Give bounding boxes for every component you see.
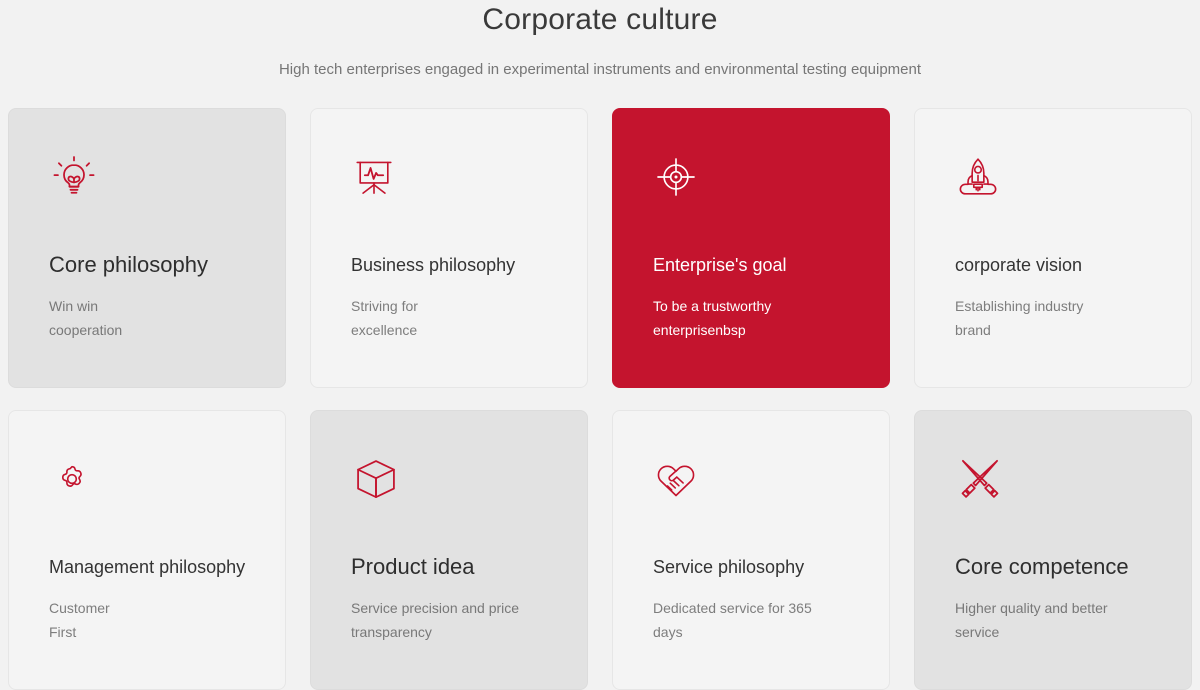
- crosshair-target-icon: [653, 154, 699, 200]
- cube-box-icon: [351, 454, 401, 504]
- card-icon-wrapper: [653, 147, 849, 207]
- culture-card[interactable]: Management philosophyCustomer First: [8, 410, 286, 690]
- culture-card[interactable]: corporate visionEstablishing industry br…: [914, 108, 1192, 388]
- crossed-swords-icon: [955, 454, 1005, 504]
- card-title: Product idea: [351, 555, 547, 579]
- card-title: Business philosophy: [351, 253, 547, 277]
- page-title: Corporate culture: [0, 2, 1200, 38]
- corporate-culture-page: Corporate culture High tech enterprises …: [0, 0, 1200, 690]
- card-description: Dedicated service for 365 days: [653, 596, 849, 644]
- card-description: Customer First: [49, 596, 245, 644]
- culture-card[interactable]: Core competenceHigher quality and better…: [914, 410, 1192, 690]
- card-description: Higher quality and better service: [955, 596, 1151, 644]
- card-description: Win win cooperation: [49, 294, 245, 342]
- card-description: Establishing industry brand: [955, 294, 1151, 342]
- culture-card[interactable]: Service philosophyDedicated service for …: [612, 410, 890, 690]
- card-icon-wrapper: [351, 147, 547, 207]
- card-title: Management philosophy: [49, 555, 245, 579]
- culture-card[interactable]: Core philosophyWin win cooperation: [8, 108, 286, 388]
- culture-card[interactable]: Enterprise's goalTo be a trustworthy ent…: [612, 108, 890, 388]
- card-description: Service precision and price transparency: [351, 596, 547, 644]
- culture-card[interactable]: Product ideaService precision and price …: [310, 410, 588, 690]
- page-subtitle: High tech enterprises engaged in experim…: [0, 60, 1200, 80]
- page-header: Corporate culture High tech enterprises …: [0, 0, 1200, 80]
- card-icon-wrapper: [955, 147, 1151, 207]
- presentation-easel-chart-icon: [351, 154, 397, 200]
- card-title: Core philosophy: [49, 253, 245, 277]
- heart-handshake-icon: [653, 456, 699, 502]
- card-title: Service philosophy: [653, 555, 849, 579]
- culture-card[interactable]: Business philosophyStriving for excellen…: [310, 108, 588, 388]
- card-title: corporate vision: [955, 253, 1151, 277]
- card-icon-wrapper: [351, 449, 547, 509]
- gear-cog-icon: [49, 456, 95, 502]
- card-title: Enterprise's goal: [653, 253, 849, 277]
- card-icon-wrapper: [49, 147, 245, 207]
- card-title: Core competence: [955, 555, 1151, 579]
- rocket-launch-icon: [955, 154, 1001, 200]
- card-icon-wrapper: [955, 449, 1151, 509]
- culture-card-grid: Core philosophyWin win cooperation Busin…: [0, 108, 1200, 690]
- lightbulb-idea-icon: [49, 152, 99, 202]
- card-icon-wrapper: [653, 449, 849, 509]
- card-description: To be a trustworthy enterprisenbsp: [653, 294, 849, 342]
- card-icon-wrapper: [49, 449, 245, 509]
- card-description: Striving for excellence: [351, 294, 547, 342]
